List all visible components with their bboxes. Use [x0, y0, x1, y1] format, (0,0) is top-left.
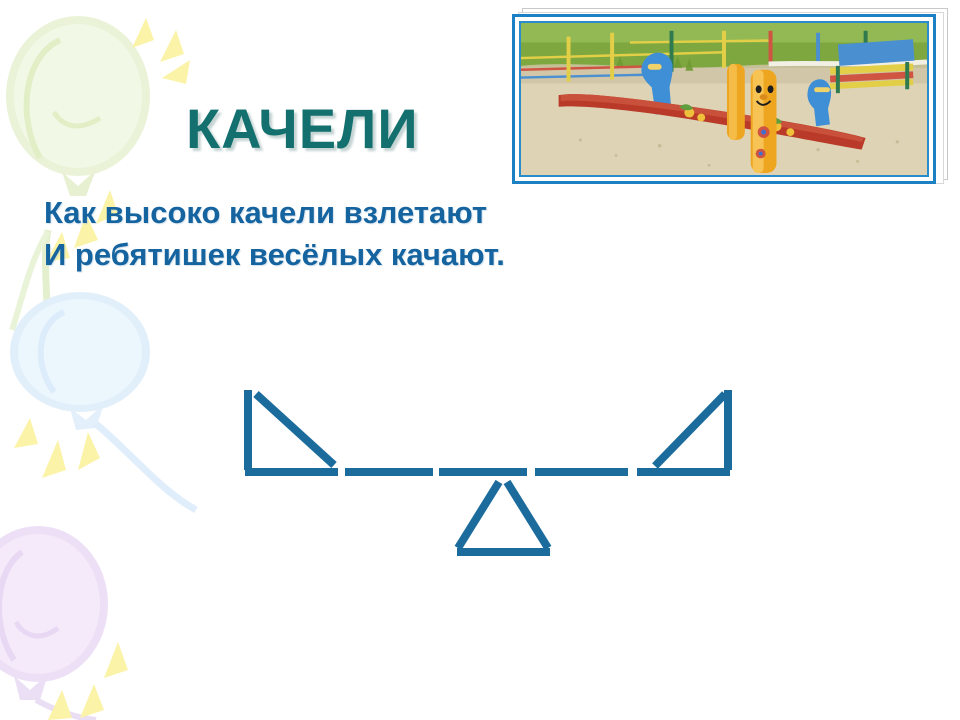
playground-seesaw-photo — [521, 23, 927, 175]
verse-line-2: И ребятишек весёлых качают. — [44, 234, 704, 276]
photo-frame — [512, 14, 936, 184]
balloon-blue-icon — [10, 292, 196, 510]
frame-border-outer — [512, 14, 936, 184]
frame-border-inner — [519, 21, 929, 177]
stick-fulcrum-left-leg — [458, 482, 499, 548]
stick-left-diagonal — [256, 394, 334, 465]
counting-sticks-seesaw-diagram — [230, 372, 750, 572]
stick-right-diagonal — [655, 394, 725, 466]
verse-line-1: Как высоко качели взлетают — [44, 192, 704, 234]
verse-block: Как высоко качели взлетают И ребятишек в… — [44, 192, 704, 276]
balloon-purple-icon — [0, 526, 108, 720]
smiling-post — [751, 70, 777, 173]
balloon-green-icon — [6, 16, 150, 360]
page-title: КАЧЕЛИ — [186, 96, 419, 161]
stick-fulcrum-right-leg — [507, 482, 548, 548]
rays-bottom-icon — [48, 642, 128, 720]
slide-canvas: КАЧЕЛИ Как высоко качели взлетают И ребя… — [0, 0, 960, 720]
rays-middle-icon — [14, 418, 100, 478]
